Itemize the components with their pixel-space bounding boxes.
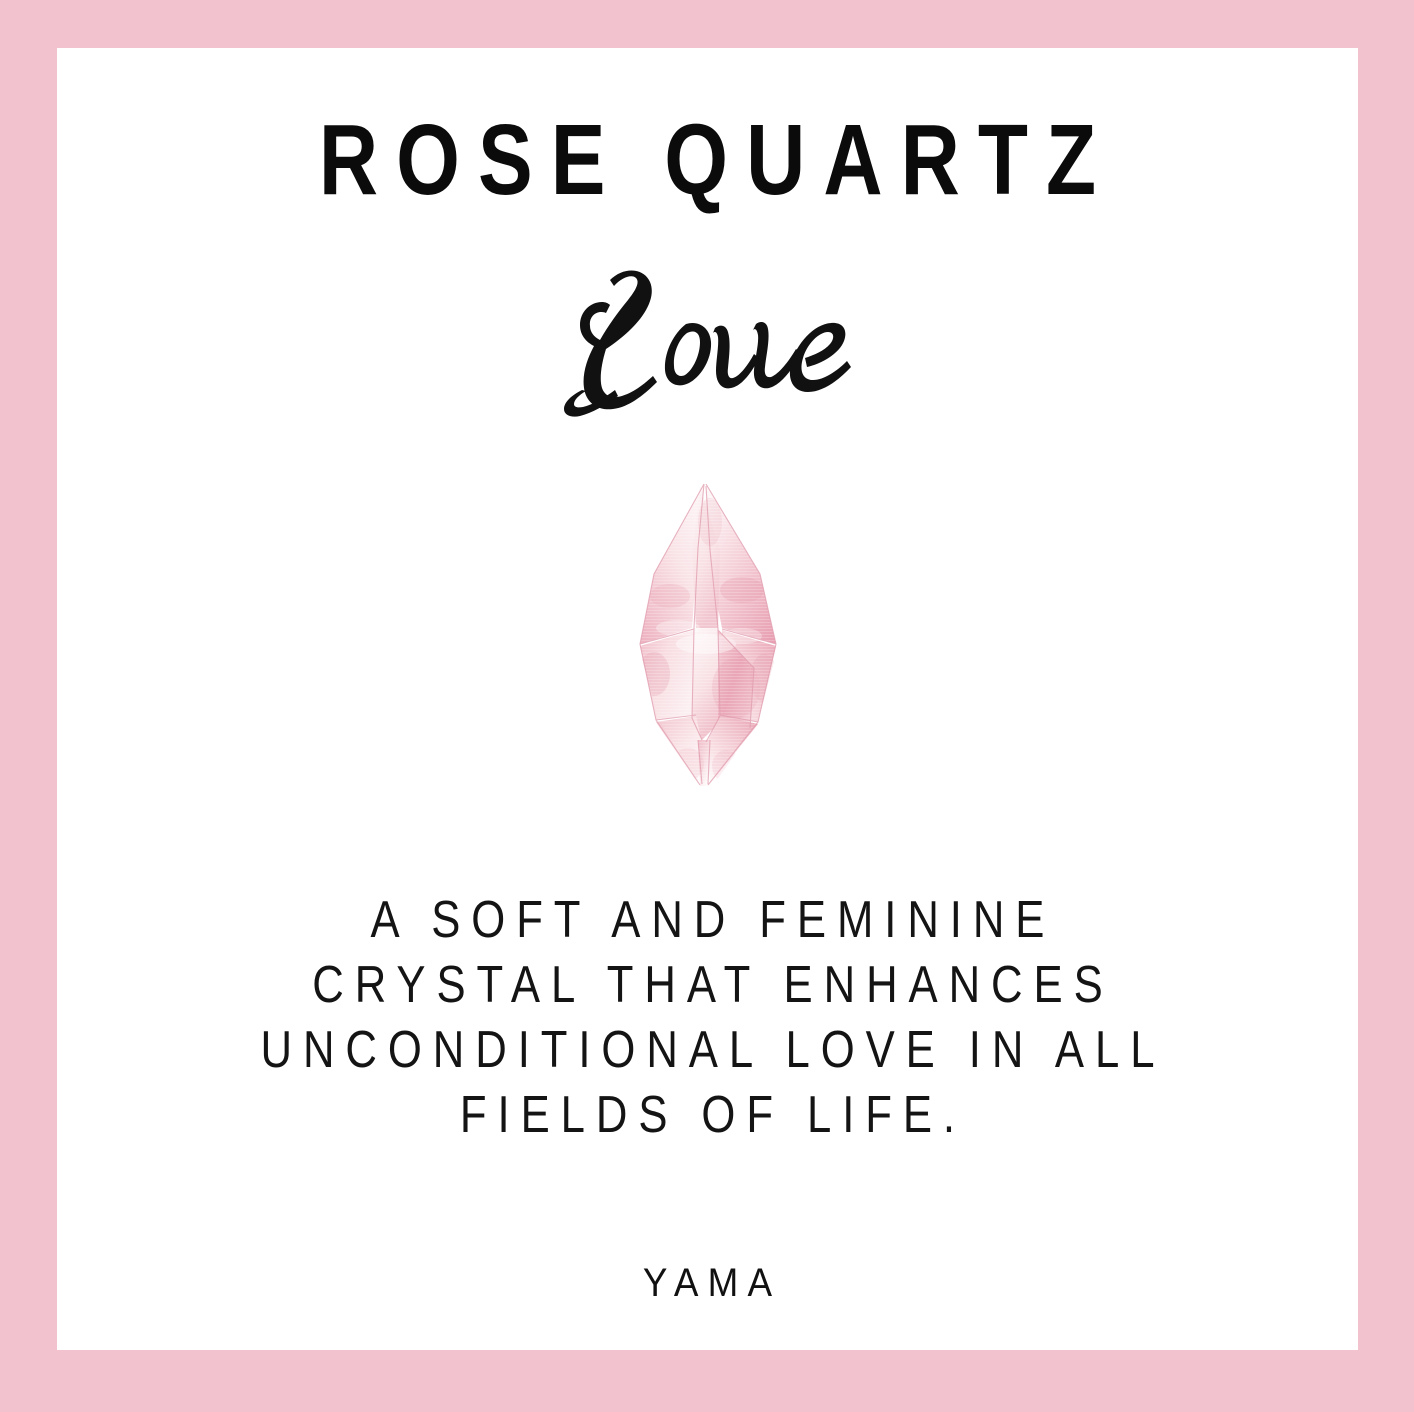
description-line-3: UNCONDITIONAL LOVE IN ALL	[161, 1018, 1254, 1083]
rose-quartz-crystal-illustration	[618, 478, 798, 790]
subtitle-script-love	[57, 262, 1358, 442]
rose-quartz-card: ROSE QUARTZ	[0, 0, 1414, 1412]
brand-signature: YAMA	[109, 1263, 1306, 1303]
crystal-facets	[618, 478, 798, 790]
crystal-svg	[618, 478, 798, 790]
description-line-2: CRYSTAL THAT ENHANCES	[161, 953, 1254, 1018]
card-inner-panel: ROSE QUARTZ	[57, 48, 1358, 1350]
description-line-4: FIELDS OF LIFE.	[161, 1083, 1254, 1148]
love-script-lettering	[558, 262, 858, 432]
description-line-1: A SOFT AND FEMININE	[161, 888, 1254, 953]
page-title: ROSE QUARTZ	[174, 110, 1241, 210]
description-text: A SOFT AND FEMININE CRYSTAL THAT ENHANCE…	[161, 888, 1254, 1148]
